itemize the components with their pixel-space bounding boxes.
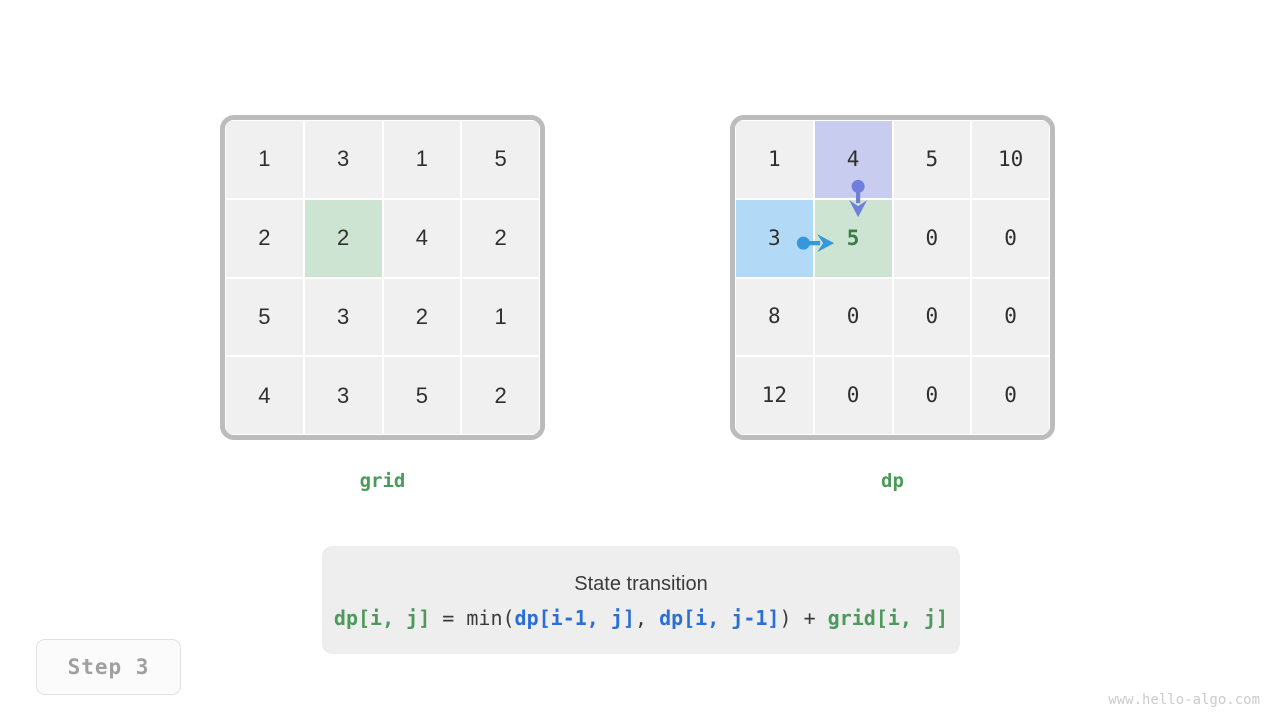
grid-cell-3-2: 5 xyxy=(383,356,462,435)
dp-cell-0-1: 4 xyxy=(814,120,893,199)
grid-cell-0-3: 5 xyxy=(461,120,540,199)
dp-cell-value: 3 xyxy=(768,228,781,249)
grid-cell-value: 4 xyxy=(258,385,270,407)
grid-cell-1-1: 2 xyxy=(304,199,383,278)
dp-cell-value: 8 xyxy=(768,306,781,327)
formula-segment-2: dp[i-1, j] xyxy=(515,606,635,630)
grid-cell-value: 2 xyxy=(258,227,270,249)
formula-segment-6: grid[i, j] xyxy=(828,606,948,630)
dp-cell-value: 12 xyxy=(762,385,787,406)
grid-cell-value: 1 xyxy=(258,148,270,170)
dp-cell-0-0: 1 xyxy=(735,120,814,199)
grid-cell-value: 3 xyxy=(337,385,349,407)
grid-cell-value: 5 xyxy=(258,306,270,328)
grid-cell-value: 1 xyxy=(495,306,507,328)
grid-matrix-caption: grid xyxy=(220,470,545,492)
grid-matrix-container: 1315224253214352 xyxy=(220,115,545,440)
grid-cell-3-3: 2 xyxy=(461,356,540,435)
grid-cell-value: 4 xyxy=(416,227,428,249)
grid-cell-2-1: 3 xyxy=(304,278,383,357)
dp-cell-1-1: 5 xyxy=(814,199,893,278)
state-transition-panel: State transition dp[i, j] = min(dp[i-1, … xyxy=(322,546,960,654)
dp-cell-value: 0 xyxy=(1004,228,1017,249)
dp-cell-value: 5 xyxy=(847,228,860,249)
dp-cell-value: 0 xyxy=(926,228,939,249)
formula-segment-1: = min( xyxy=(430,606,514,630)
dp-cell-2-0: 8 xyxy=(735,278,814,357)
dp-cell-3-0: 12 xyxy=(735,356,814,435)
grid-cell-0-0: 1 xyxy=(225,120,304,199)
grid-cell-value: 2 xyxy=(495,227,507,249)
dp-cell-value: 5 xyxy=(926,149,939,170)
dp-cell-value: 4 xyxy=(847,149,860,170)
dp-cell-0-2: 5 xyxy=(893,120,972,199)
formula-segment-4: dp[i, j-1] xyxy=(659,606,779,630)
dp-cell-1-2: 0 xyxy=(893,199,972,278)
grid-cell-value: 3 xyxy=(337,148,349,170)
dp-cell-value: 0 xyxy=(847,385,860,406)
grid-cell-1-3: 2 xyxy=(461,199,540,278)
dp-cell-3-2: 0 xyxy=(893,356,972,435)
formula-segment-5: ) + xyxy=(779,606,827,630)
grid-cell-3-1: 3 xyxy=(304,356,383,435)
grid-cell-value: 2 xyxy=(337,227,349,249)
dp-cell-3-1: 0 xyxy=(814,356,893,435)
grid-cell-2-3: 1 xyxy=(461,278,540,357)
grid-matrix: 1315224253214352 xyxy=(220,115,545,440)
grid-cell-value: 5 xyxy=(495,148,507,170)
formula-segment-3: , xyxy=(635,606,659,630)
grid-cell-2-2: 2 xyxy=(383,278,462,357)
state-transition-formula: dp[i, j] = min(dp[i-1, j], dp[i, j-1]) +… xyxy=(334,608,948,628)
grid-cell-value: 5 xyxy=(416,385,428,407)
dp-cell-value: 0 xyxy=(847,306,860,327)
dp-cell-2-2: 0 xyxy=(893,278,972,357)
grid-cell-1-0: 2 xyxy=(225,199,304,278)
dp-cell-1-0: 3 xyxy=(735,199,814,278)
dp-cell-2-1: 0 xyxy=(814,278,893,357)
grid-cell-value: 1 xyxy=(416,148,428,170)
dp-cell-value: 0 xyxy=(926,306,939,327)
grid-cell-0-1: 3 xyxy=(304,120,383,199)
grid-cell-2-0: 5 xyxy=(225,278,304,357)
formula-segment-0: dp[i, j] xyxy=(334,606,430,630)
dp-matrix: 145103500800012000 xyxy=(730,115,1055,440)
step-badge: Step 3 xyxy=(36,639,181,695)
grid-cell-1-2: 4 xyxy=(383,199,462,278)
dp-matrix-container: 145103500800012000 xyxy=(730,115,1055,440)
dp-cell-value: 0 xyxy=(1004,306,1017,327)
grid-cell-value: 2 xyxy=(495,385,507,407)
dp-cell-value: 0 xyxy=(1004,385,1017,406)
dp-cell-value: 1 xyxy=(768,149,781,170)
dp-cell-1-3: 0 xyxy=(971,199,1050,278)
dp-matrix-caption: dp xyxy=(730,470,1055,492)
dp-cell-3-3: 0 xyxy=(971,356,1050,435)
grid-cell-0-2: 1 xyxy=(383,120,462,199)
grid-cell-value: 3 xyxy=(337,306,349,328)
grid-cell-value: 2 xyxy=(416,306,428,328)
dp-cell-2-3: 0 xyxy=(971,278,1050,357)
dp-cell-value: 0 xyxy=(926,385,939,406)
watermark: www.hello-algo.com xyxy=(1108,692,1260,708)
grid-cell-3-0: 4 xyxy=(225,356,304,435)
state-transition-title: State transition xyxy=(574,573,707,596)
dp-cell-0-3: 10 xyxy=(971,120,1050,199)
dp-cell-value: 10 xyxy=(998,149,1023,170)
